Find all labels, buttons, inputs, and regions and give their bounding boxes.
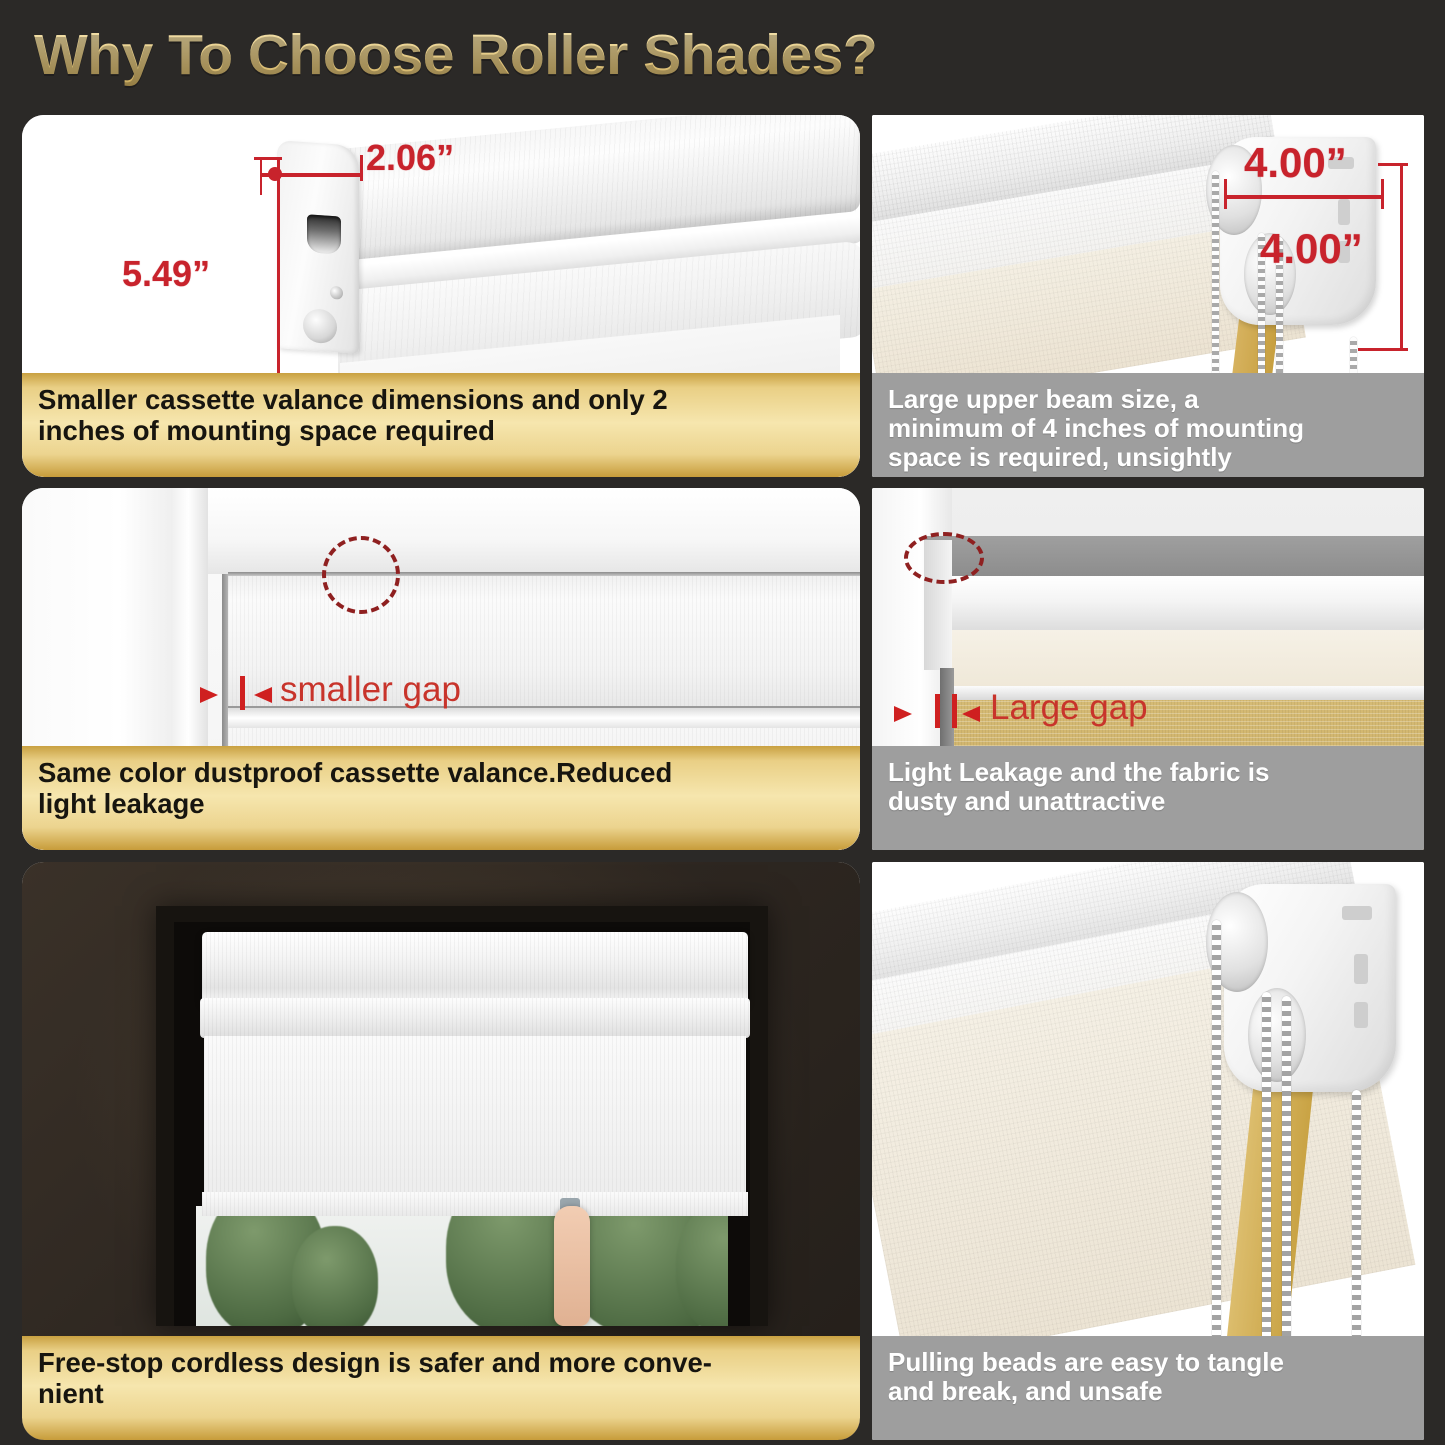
large-gap-label: Large gap [990, 688, 1148, 728]
height-dimension-top-tick [254, 157, 282, 160]
bead-chain-right [1282, 996, 1291, 1368]
bead-chain-left [1212, 171, 1219, 381]
gap-highlight-ellipse-icon [322, 536, 400, 614]
gap-arrow-left-icon [894, 706, 912, 722]
beam-width-left-tick [1224, 179, 1227, 209]
panel-pulling-beads: Pulling beads are easy to tangle and bre… [872, 862, 1424, 1440]
beam-width-label: 4.00” [1244, 139, 1347, 187]
caption-line: nient [38, 1379, 846, 1410]
gap-marker-bar-right [952, 694, 957, 728]
panel-large-beam-dimensions: 4.00” 4.00” Large upper beam size, a min… [872, 115, 1424, 477]
shade-bottom-rail [202, 1192, 748, 1216]
ceiling-shadow-bar [924, 536, 1424, 578]
height-dimension-line [277, 157, 280, 401]
width-dimension-line [260, 159, 262, 195]
panel-cordless-design: Free-stop cordless design is safer and m… [22, 862, 860, 1440]
bracket-notch-mid [1354, 954, 1368, 984]
caption-line: Same color dustproof cassette valance.Re… [38, 758, 846, 789]
window-frame [156, 906, 768, 1326]
window-view-sky [196, 1206, 728, 1326]
caption-line: space is required, unsightly [888, 443, 1410, 472]
caption-line: minimum of 4 inches of mounting [888, 414, 1410, 443]
caption-line: inches of mounting space required [38, 416, 846, 447]
beam-height-bottom-tick [1358, 348, 1408, 351]
bracket-notch-mid [1338, 199, 1350, 225]
gap-highlight-ellipse-icon [904, 532, 984, 584]
smaller-gap-label: smaller gap [280, 670, 461, 710]
infographic-page: Why To Choose Roller Shades? 2.06” [0, 0, 1445, 1445]
endcap-screw-lower [303, 308, 337, 344]
caption-line: and break, and unsafe [888, 1377, 1410, 1406]
bracket-notch-top [1342, 906, 1372, 920]
panel-caption-bad-2: Light Leakage and the fabric is dusty an… [872, 746, 1424, 850]
caption-line: Light Leakage and the fabric is [888, 758, 1410, 787]
fabric-cream-band [952, 630, 1424, 688]
gap-arrow-right-icon [962, 706, 980, 722]
roller-tube [950, 576, 1424, 632]
panel-caption-good-1: Smaller cassette valance dimensions and … [22, 373, 860, 477]
shade-fabric [204, 1036, 746, 1208]
caption-line: Free-stop cordless design is safer and m… [38, 1348, 846, 1379]
gap-arrow-right-icon [254, 687, 272, 703]
width-dimension-label: 2.06” [366, 137, 454, 179]
caption-line: Smaller cassette valance dimensions and … [38, 385, 846, 416]
panel-caption-bad-3: Pulling beads are easy to tangle and bre… [872, 1336, 1424, 1440]
panel-smaller-gap: smaller gap Same color dustproof cassett… [22, 488, 860, 850]
hand [554, 1206, 590, 1326]
height-dimension-label: 5.49” [122, 253, 210, 295]
caption-line: dusty and unattractive [888, 787, 1410, 816]
beam-height-top-tick [1378, 163, 1408, 166]
endcap-screw-upper [330, 286, 343, 300]
panel-large-gap: Large gap Light Leakage and the fabric i… [872, 488, 1424, 850]
bead-pulley-lower [1248, 988, 1306, 1082]
panel-caption-good-2: Same color dustproof cassette valance.Re… [22, 746, 860, 850]
gap-marker-bar [240, 676, 245, 710]
beam-width-rule [1224, 195, 1384, 199]
bead-chain-left [1212, 920, 1221, 1368]
tree [292, 1226, 378, 1326]
bead-chain-far-right [1352, 1090, 1361, 1368]
valance-roll [200, 998, 750, 1038]
endcap-slot [307, 214, 341, 254]
gap-arrow-left-icon [200, 687, 218, 703]
panel-cassette-dimensions: 2.06” 5.49” Smaller cassette valance dim… [22, 115, 860, 477]
beam-width-right-tick [1381, 179, 1384, 209]
bead-chain-mid [1262, 992, 1271, 1368]
beam-height-rule [1400, 163, 1403, 351]
window-frame-top [172, 488, 860, 574]
gap-marker-bar-left [935, 694, 940, 728]
panel-grid: 2.06” 5.49” Smaller cassette valance dim… [0, 110, 1445, 1445]
panel-caption-bad-1: Large upper beam size, a minimum of 4 in… [872, 373, 1424, 477]
caption-line: Large upper beam size, a [888, 385, 1410, 414]
width-dimension-end [360, 155, 363, 181]
cassette-valance [202, 932, 748, 1004]
caption-line: light leakage [38, 789, 846, 820]
caption-line: Pulling beads are easy to tangle [888, 1348, 1410, 1377]
bracket-notch-low [1354, 1002, 1368, 1028]
page-title: Why To Choose Roller Shades? [34, 22, 877, 88]
panel-caption-good-3: Free-stop cordless design is safer and m… [22, 1336, 860, 1440]
beam-height-label: 4.00” [1260, 225, 1363, 273]
